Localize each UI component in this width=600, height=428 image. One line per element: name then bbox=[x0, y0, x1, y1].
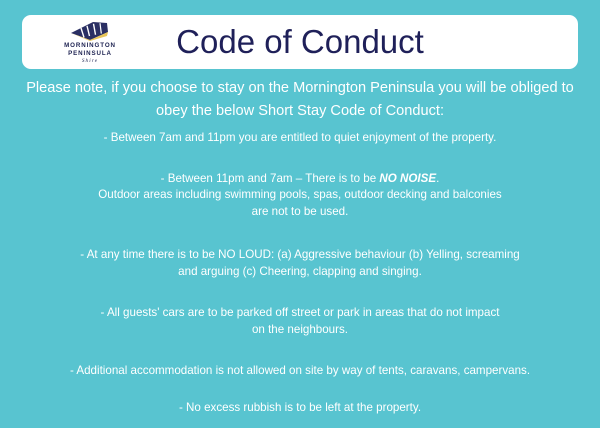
logo-line-3: Shire bbox=[82, 57, 98, 65]
logo-line-2: PENINSULA bbox=[68, 50, 112, 58]
rule-no-noise: - Between 11pm and 7am – There is to be … bbox=[20, 171, 580, 221]
logo-line-1: MORNINGTON bbox=[64, 42, 116, 50]
rule-line: and arguing (c) Cheering, clapping and s… bbox=[20, 264, 580, 281]
rule-line: - No excess rubbish is to be left at the… bbox=[20, 400, 580, 417]
header-card: MORNINGTON PENINSULA Shire Code of Condu… bbox=[22, 15, 578, 69]
emphasis-no-noise: NO NOISE bbox=[379, 172, 436, 185]
rule-line: are not to be used. bbox=[20, 204, 580, 221]
rule-parking: - All guests' cars are to be parked off … bbox=[20, 305, 580, 338]
rule-no-loud: - At any time there is to be NO LOUD: (a… bbox=[20, 247, 580, 280]
intro-text: Please note, if you choose to stay on th… bbox=[0, 77, 600, 123]
rule-quiet-enjoyment: - Between 7am and 11pm you are entitled … bbox=[20, 130, 580, 147]
rule-line: - Between 11pm and 7am – There is to be … bbox=[20, 171, 580, 188]
rules-list: - Between 7am and 11pm you are entitled … bbox=[0, 130, 600, 416]
rule-line: on the neighbours. bbox=[20, 322, 580, 339]
rule-additional-accommodation: - Additional accommodation is not allowe… bbox=[20, 363, 580, 380]
peninsula-wave-mark bbox=[67, 20, 113, 42]
rule-line: - Between 7am and 11pm you are entitled … bbox=[20, 130, 580, 147]
code-of-conduct-poster: MORNINGTON PENINSULA Shire Code of Condu… bbox=[0, 0, 600, 428]
rule-line: - All guests' cars are to be parked off … bbox=[20, 305, 580, 322]
rule-line: Outdoor areas including swimming pools, … bbox=[20, 187, 580, 204]
mornington-peninsula-shire-logo: MORNINGTON PENINSULA Shire bbox=[42, 18, 138, 68]
emphasis-suffix: . bbox=[436, 172, 439, 185]
rule-line: - Additional accommodation is not allowe… bbox=[20, 363, 580, 380]
rule-rubbish: - No excess rubbish is to be left at the… bbox=[20, 400, 580, 417]
rule-line-text: - Between 11pm and 7am – There is to be bbox=[161, 172, 380, 185]
rule-line: - At any time there is to be NO LOUD: (a… bbox=[20, 247, 580, 264]
